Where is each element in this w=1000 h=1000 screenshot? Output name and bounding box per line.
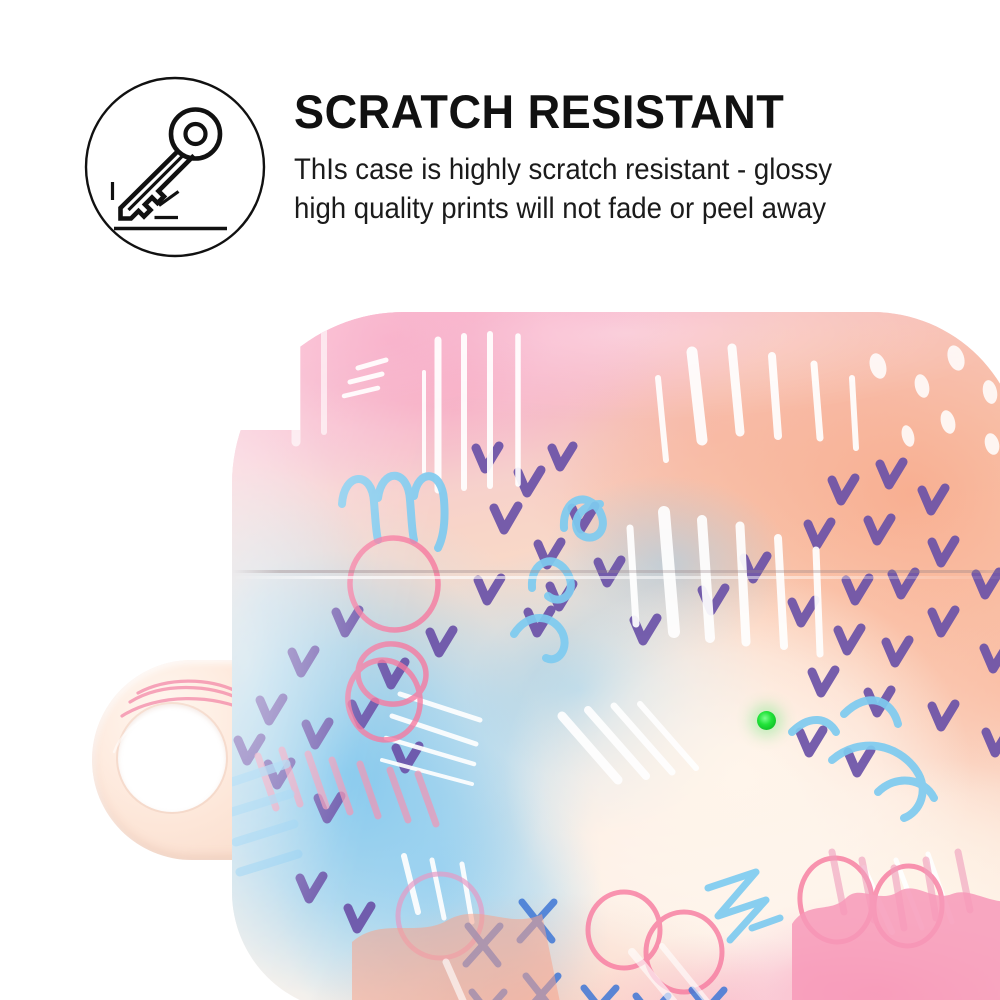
feature-header: SCRATCH RESISTANT ThIs case is highly sc… bbox=[0, 0, 1000, 300]
feature-text-block: SCRATCH RESISTANT ThIs case is highly sc… bbox=[294, 88, 954, 228]
key-scratch-icon bbox=[84, 76, 266, 258]
feature-description: ThIs case is highly scratch resistant - … bbox=[294, 150, 911, 228]
case-body bbox=[232, 312, 1000, 1000]
product-photo bbox=[0, 290, 1000, 1000]
feature-description-line-2: high quality prints will not fade or pee… bbox=[294, 189, 911, 228]
feature-description-line-1: ThIs case is highly scratch resistant - … bbox=[294, 150, 911, 189]
charging-led bbox=[757, 711, 776, 730]
case-lid-seam bbox=[232, 570, 1000, 573]
case-lid-seam-highlight bbox=[232, 576, 1000, 579]
gloss-overlay bbox=[232, 312, 1000, 1000]
feature-title: SCRATCH RESISTANT bbox=[294, 88, 928, 136]
